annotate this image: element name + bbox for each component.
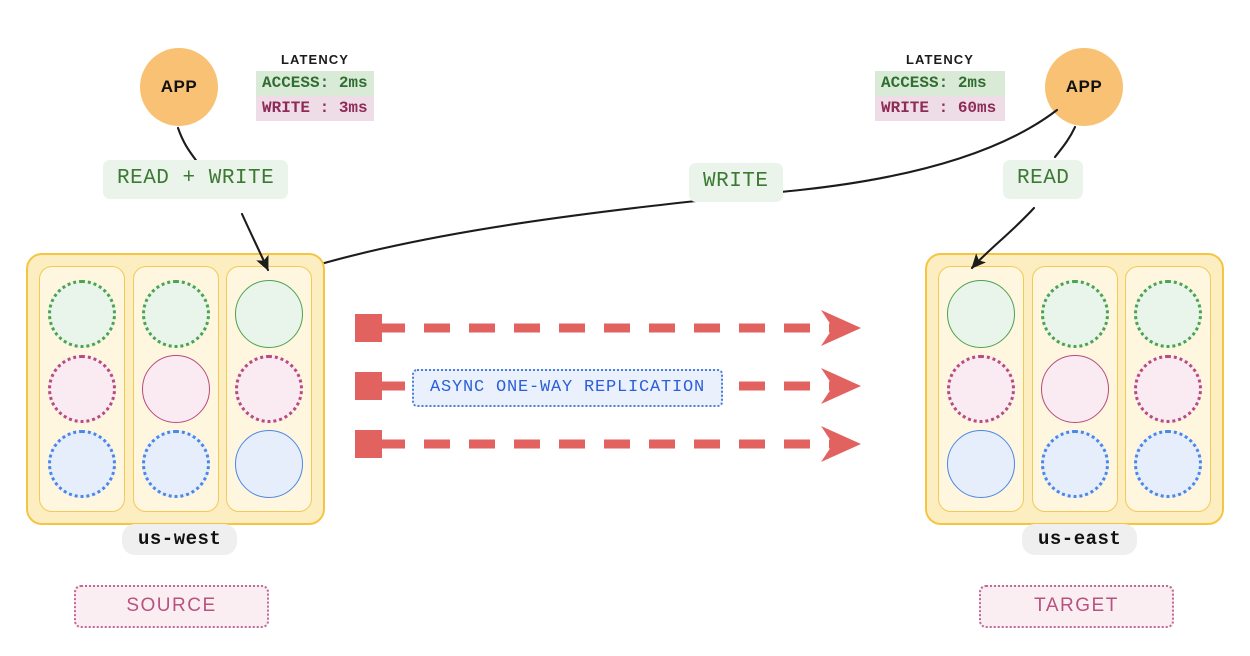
- diagram-canvas: APP LATENCY ACCESS: 2ms WRITE : 3ms READ…: [0, 0, 1250, 656]
- latency-panel-us-west: LATENCY ACCESS: 2ms WRITE : 3ms: [256, 52, 374, 121]
- op-label-read-text: READ: [1003, 160, 1083, 199]
- shard-pink-replica: [48, 355, 116, 423]
- replication-arrow-3: [355, 426, 861, 462]
- latency-row-write: WRITE : 3ms: [256, 96, 374, 121]
- role-badge-target: TARGET: [979, 585, 1174, 628]
- shard-green-replica: [48, 280, 116, 348]
- node-us-west-3: [226, 266, 312, 512]
- latency-row-access: ACCESS: 2ms: [875, 71, 1005, 96]
- node-us-east-1: [938, 266, 1024, 512]
- write-replication-curve: [282, 110, 1057, 276]
- shard-green-leader: [235, 280, 303, 348]
- region-pill-us-west: us-west: [122, 524, 237, 555]
- latency-title: LATENCY: [281, 52, 349, 67]
- shard-blue-leader: [235, 430, 303, 498]
- cluster-us-east: [925, 253, 1224, 525]
- shard-green-replica: [142, 280, 210, 348]
- app-node-label: APP: [1066, 77, 1102, 97]
- shard-green-replica: [1041, 280, 1109, 348]
- latency-row-access: ACCESS: 2ms: [256, 71, 374, 96]
- region-pill-us-east-text: us-east: [1022, 524, 1137, 555]
- shard-pink-leader: [142, 355, 210, 423]
- role-badge-source-text: SOURCE: [126, 595, 216, 616]
- shard-blue-leader: [947, 430, 1015, 498]
- app-node-us-east[interactable]: APP: [1045, 48, 1123, 126]
- shard-green-replica: [1134, 280, 1202, 348]
- region-pill-us-west-text: us-west: [122, 524, 237, 555]
- node-us-east-2: [1032, 266, 1118, 512]
- shard-pink-leader: [1041, 355, 1109, 423]
- latency-panel-us-east: LATENCY ACCESS: 2ms WRITE : 60ms: [875, 52, 1005, 121]
- left-app-to-oplabel-line: [178, 128, 198, 163]
- node-us-west-2: [133, 266, 219, 512]
- replication-arrow-1: [355, 310, 861, 346]
- region-pill-us-east: us-east: [1022, 524, 1137, 555]
- op-label-write: WRITE: [689, 163, 783, 202]
- app-node-us-west[interactable]: APP: [140, 48, 218, 126]
- app-node-label: APP: [161, 77, 197, 97]
- latency-row-write: WRITE : 60ms: [875, 96, 1005, 121]
- shard-blue-replica: [1041, 430, 1109, 498]
- shard-blue-replica: [142, 430, 210, 498]
- replication-label: ASYNC ONE-WAY REPLICATION: [412, 369, 723, 407]
- right-app-to-oplabel-line: [1055, 127, 1075, 157]
- op-label-read-write: READ + WRITE: [103, 160, 288, 199]
- op-label-write-text: WRITE: [689, 163, 783, 202]
- shard-pink-replica: [947, 355, 1015, 423]
- op-label-read-write-text: READ + WRITE: [103, 160, 288, 199]
- node-us-west-1: [39, 266, 125, 512]
- role-badge-target-text: TARGET: [1034, 595, 1119, 616]
- role-badge-source: SOURCE: [74, 585, 269, 628]
- cluster-us-west: [26, 253, 325, 525]
- shard-green-leader: [947, 280, 1015, 348]
- shard-pink-replica: [1134, 355, 1202, 423]
- shard-blue-replica: [1134, 430, 1202, 498]
- shard-blue-replica: [48, 430, 116, 498]
- op-label-read: READ: [1003, 160, 1083, 199]
- node-us-east-3: [1125, 266, 1211, 512]
- replication-label-text: ASYNC ONE-WAY REPLICATION: [430, 378, 705, 397]
- shard-pink-replica: [235, 355, 303, 423]
- latency-title: LATENCY: [906, 52, 974, 67]
